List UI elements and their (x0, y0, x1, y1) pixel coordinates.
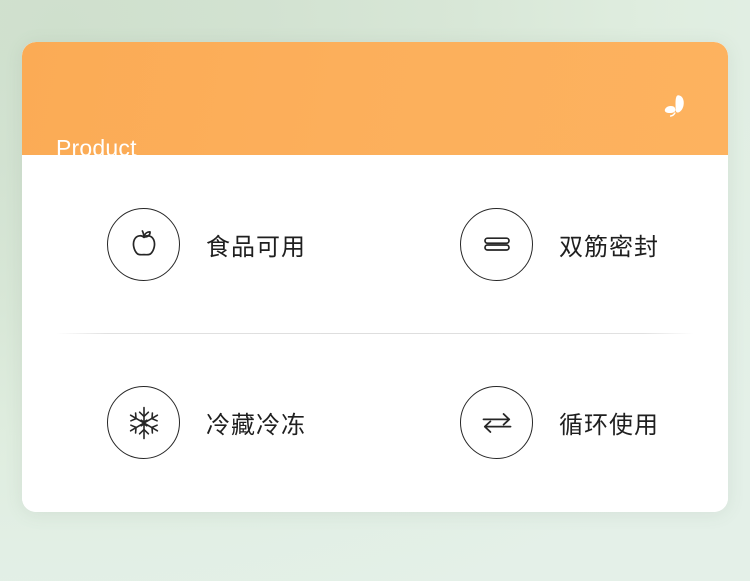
snowflake-icon (107, 386, 180, 459)
feature-label-food-safe: 食品可用 (206, 227, 306, 262)
product-selling-point-card: Product Selling point (22, 42, 728, 512)
apple-icon (107, 208, 180, 281)
feature-item-refrigerate-freeze: 冷藏冷冻 (22, 334, 375, 513)
double-rib-seal-icon (460, 208, 533, 281)
recycle-arrows-icon (460, 386, 533, 459)
feature-label-double-seal: 双筋密封 (559, 227, 659, 262)
feature-label-reusable: 循环使用 (559, 405, 659, 440)
card-header: Product Selling point (22, 42, 728, 155)
feature-item-double-seal: 双筋密封 (375, 155, 728, 334)
row-divider (56, 333, 694, 334)
feature-item-reusable: 循环使用 (375, 334, 728, 513)
butterfly-icon (658, 88, 694, 124)
feature-label-refrigerate-freeze: 冷藏冷冻 (206, 405, 306, 440)
card-body: 食品可用 双筋密封 (22, 155, 728, 512)
feature-item-food-safe: 食品可用 (22, 155, 375, 334)
